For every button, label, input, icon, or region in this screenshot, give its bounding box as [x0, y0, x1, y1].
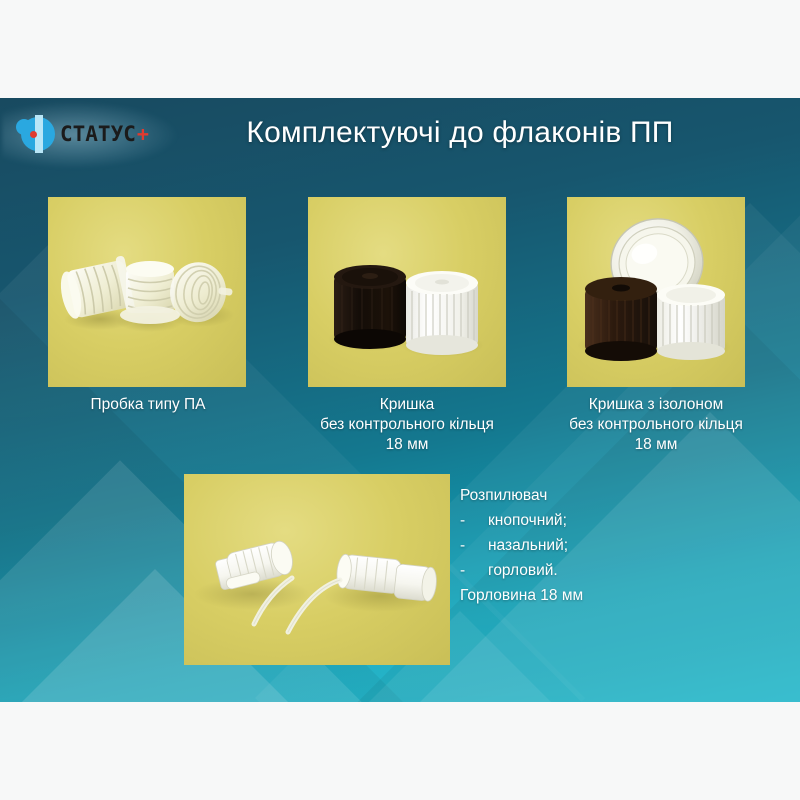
- cap-no-ring-artwork: [308, 197, 506, 387]
- product-photo-sprayer: [184, 474, 450, 665]
- bullet-dash: -: [460, 533, 488, 558]
- sprayer-footer: Горловина 18 мм: [460, 583, 760, 608]
- sprayer-bullet-3: - горловий.: [460, 558, 760, 583]
- caption-line: Кришка: [282, 395, 532, 415]
- bullet-dash: -: [460, 558, 488, 583]
- caption-cork-pa: Пробка типу ПА: [30, 395, 266, 415]
- caption-cap-izolon: Кришка з ізолоном без контрольного кільц…: [540, 395, 772, 455]
- presentation-slide: СТАТУС+ Комплектуючі до флаконів ПП: [0, 98, 800, 702]
- brand-logo: СТАТУС+: [16, 110, 162, 158]
- bullet-label: назальний;: [488, 533, 760, 558]
- product-photo-cap-no-ring: [308, 197, 506, 387]
- caption-cap-no-ring: Кришка без контрольного кільця 18 мм: [282, 395, 532, 455]
- caption-line: 18 мм: [540, 435, 772, 455]
- brand-name: СТАТУС: [60, 122, 136, 146]
- bullet-label: горловий.: [488, 558, 760, 583]
- cap-izolon-artwork: [567, 197, 745, 387]
- bullet-label: кнопочний;: [488, 508, 760, 533]
- slide-page: СТАТУС+ Комплектуючі до флаконів ПП: [0, 0, 800, 800]
- caption-line: Пробка типу ПА: [30, 395, 266, 415]
- caption-line: без контрольного кільця: [282, 415, 532, 435]
- sprayer-bullet-1: - кнопочний;: [460, 508, 760, 533]
- caption-line: 18 мм: [282, 435, 532, 455]
- product-photo-cap-izolon: [567, 197, 745, 387]
- product-photo-cork-pa: [48, 197, 246, 387]
- bullet-dash: -: [460, 508, 488, 533]
- letterbox-top: [0, 0, 800, 98]
- brand-name-wrap: СТАТУС+: [60, 124, 149, 145]
- sprayer-heading: Розпилювач: [460, 483, 760, 508]
- sprayer-artwork: [184, 474, 450, 665]
- status-circle-logo-icon: [16, 114, 56, 154]
- brand-plus: +: [137, 122, 149, 146]
- letterbox-bottom: [0, 702, 800, 800]
- slide-title: Комплектуючі до флаконів ПП: [150, 116, 770, 150]
- caption-line: без контрольного кільця: [540, 415, 772, 435]
- sprayer-bullet-2: - назальний;: [460, 533, 760, 558]
- cork-pa-artwork: [48, 197, 246, 387]
- sprayer-text-block: Розпилювач - кнопочний; - назальний; - г…: [460, 483, 760, 608]
- caption-line: Кришка з ізолоном: [540, 395, 772, 415]
